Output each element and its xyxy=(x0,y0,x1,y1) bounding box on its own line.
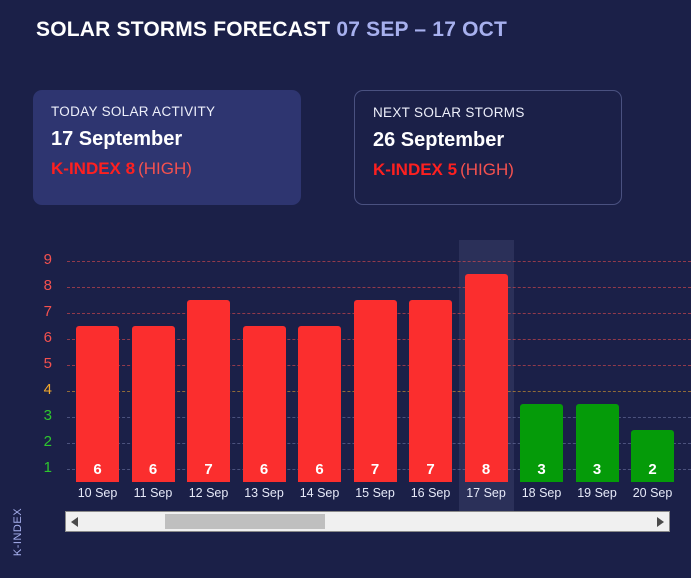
kindex-bar-chart: K-INDEX 987654321 66766778332 10 Sep11 S… xyxy=(0,234,691,524)
y-axis-title: K-INDEX xyxy=(12,492,24,572)
card-next-kindex-level: (HIGH) xyxy=(460,160,514,179)
x-axis-tick-label: 16 Sep xyxy=(403,486,459,500)
chart-bar[interactable]: 7 xyxy=(354,300,397,482)
chart-bar[interactable]: 6 xyxy=(243,326,286,482)
chart-bar-value-label: 7 xyxy=(187,461,230,478)
card-today-solar-activity[interactable]: TODAY SOLAR ACTIVITY 17 September K-INDE… xyxy=(33,90,301,205)
card-today-date: 17 September xyxy=(51,128,301,151)
triangle-left-icon xyxy=(71,517,78,527)
card-next-kindex: K-INDEX 5(HIGH) xyxy=(373,160,621,180)
chart-bar[interactable]: 3 xyxy=(576,404,619,482)
chart-bar-value-label: 6 xyxy=(132,461,175,478)
chart-bar[interactable]: 6 xyxy=(298,326,341,482)
card-today-kindex-value: K-INDEX 8 xyxy=(51,159,135,178)
y-axis-tick-label: 7 xyxy=(24,302,52,322)
chart-bar-value-label: 7 xyxy=(409,461,452,478)
scroll-right-arrow-icon[interactable] xyxy=(652,512,669,531)
scroll-left-arrow-icon[interactable] xyxy=(66,512,83,531)
x-axis-tick-label: 10 Sep xyxy=(70,486,126,500)
y-axis-tick-label: 1 xyxy=(24,458,52,478)
chart-bar-value-label: 8 xyxy=(465,461,508,478)
y-axis-tick-label: 6 xyxy=(24,328,52,348)
x-axis-tick-label: 14 Sep xyxy=(292,486,348,500)
x-axis-tick-label: 20 Sep xyxy=(625,486,681,500)
x-axis-tick-label: 19 Sep xyxy=(569,486,625,500)
chart-bar[interactable]: 8 xyxy=(465,274,508,482)
card-next-kindex-value: K-INDEX 5 xyxy=(373,160,457,179)
y-axis-tick-label: 5 xyxy=(24,354,52,374)
x-axis-tick-label: 13 Sep xyxy=(236,486,292,500)
x-axis-tick-label: 18 Sep xyxy=(514,486,570,500)
y-axis-tick-label: 4 xyxy=(24,380,52,400)
card-today-kindex: K-INDEX 8(HIGH) xyxy=(51,159,301,179)
y-axis-tick-label: 9 xyxy=(24,250,52,270)
chart-bar[interactable]: 3 xyxy=(520,404,563,482)
chart-bar[interactable]: 2 xyxy=(631,430,674,482)
card-next-date: 26 September xyxy=(373,129,621,152)
chart-bar[interactable]: 6 xyxy=(76,326,119,482)
x-axis-tick-label: 15 Sep xyxy=(347,486,403,500)
page-title: SOLAR STORMS FORECAST07 SEP – 17 OCT xyxy=(36,18,507,42)
page-title-main: SOLAR STORMS FORECAST xyxy=(36,18,330,41)
page-title-date-range: 07 SEP – 17 OCT xyxy=(336,18,507,41)
card-today-kindex-level: (HIGH) xyxy=(138,159,192,178)
y-axis-tick-label: 2 xyxy=(24,432,52,452)
chart-bar-value-label: 2 xyxy=(631,461,674,478)
chart-bar-value-label: 7 xyxy=(354,461,397,478)
x-axis-tick-label: 11 Sep xyxy=(125,486,181,500)
y-axis-tick-label: 3 xyxy=(24,406,52,426)
chart-bar-value-label: 3 xyxy=(520,461,563,478)
chart-bar[interactable]: 7 xyxy=(409,300,452,482)
card-next-caption: NEXT SOLAR STORMS xyxy=(373,105,621,120)
x-axis-tick-label: 12 Sep xyxy=(181,486,237,500)
chart-bar-value-label: 6 xyxy=(243,461,286,478)
y-axis-tick-label: 8 xyxy=(24,276,52,296)
gridline xyxy=(67,287,691,288)
scrollbar-thumb[interactable] xyxy=(165,514,325,529)
chart-bar[interactable]: 6 xyxy=(132,326,175,482)
triangle-right-icon xyxy=(657,517,664,527)
chart-bar-value-label: 6 xyxy=(298,461,341,478)
x-axis-tick-label: 17 Sep xyxy=(458,486,514,500)
chart-bar-value-label: 3 xyxy=(576,461,619,478)
gridline xyxy=(67,261,691,262)
chart-plot-area: 987654321 66766778332 10 Sep11 Sep12 Sep… xyxy=(60,240,691,482)
horizontal-scrollbar[interactable] xyxy=(65,511,670,532)
card-today-caption: TODAY SOLAR ACTIVITY xyxy=(51,104,301,119)
chart-bar-value-label: 6 xyxy=(76,461,119,478)
card-next-solar-storms[interactable]: NEXT SOLAR STORMS 26 September K-INDEX 5… xyxy=(354,90,622,205)
chart-bar[interactable]: 7 xyxy=(187,300,230,482)
